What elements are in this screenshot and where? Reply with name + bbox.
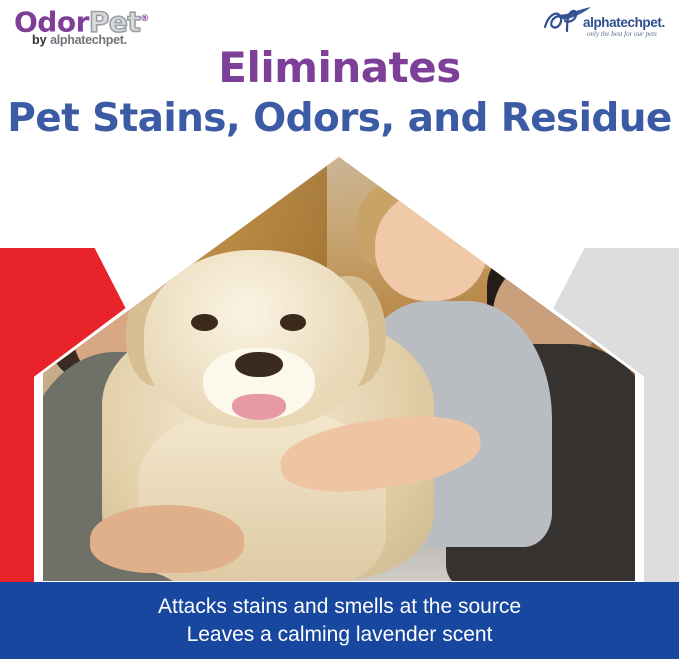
headline-secondary: Pet Stains, Odors, and Residue [0, 96, 679, 141]
footer-claim-line-1: Attacks stains and smells at the source [158, 593, 521, 621]
photo-dog-eye-left [191, 314, 218, 331]
photo-dog-eye-right [280, 314, 307, 331]
photo-girl-head [375, 191, 487, 301]
photo-mother-arm [90, 505, 244, 573]
registered-trademark-icon: ® [140, 14, 149, 24]
hero-photo-frame [34, 148, 644, 588]
headline-primary: Eliminates [0, 44, 679, 92]
footer-claim-line-2: Leaves a calming lavender scent [187, 621, 493, 649]
alphatechpet-tagline: only the best for our pets [587, 30, 657, 38]
promo-banner: OdorPet® by alphatechpet. alphatechpet. … [0, 0, 679, 659]
alphatechpet-name: alphatechpet. [583, 15, 665, 30]
photo-dog-nose [235, 352, 282, 377]
photo-dog-tongue [232, 394, 285, 419]
hero-photo [43, 157, 635, 581]
footer-banner: Attacks stains and smells at the source … [0, 582, 679, 659]
alphatechpet-logo: alphatechpet. only the best for our pets [537, 2, 673, 44]
